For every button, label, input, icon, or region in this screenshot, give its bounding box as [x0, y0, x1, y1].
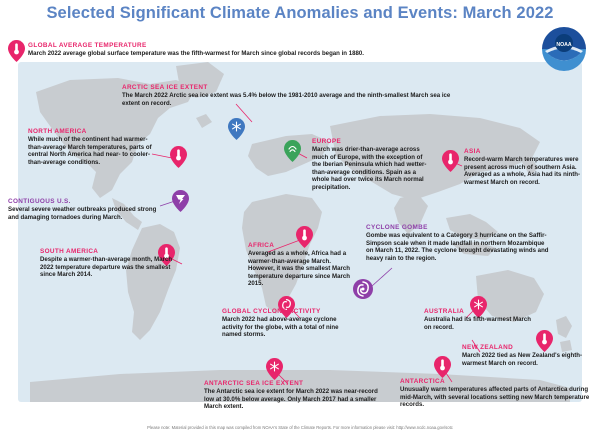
- callout-north-america: NORTH AMERICA While much of the continen…: [28, 128, 156, 166]
- callout-contiguous-us: CONTIGUOUS U.S. Several severe weather o…: [8, 198, 160, 221]
- marker-europe[interactable]: [284, 140, 301, 162]
- callout-body: Several severe weather outbreaks produce…: [8, 206, 160, 221]
- callout-body: March was drier-than-average across much…: [312, 146, 432, 192]
- marker-cyclone-gombe[interactable]: [352, 278, 374, 300]
- callout-heading: AUSTRALIA: [424, 308, 536, 316]
- marker-antarctic-sea-ice[interactable]: [266, 358, 283, 380]
- marker-asia[interactable]: [442, 150, 459, 172]
- callout-body: The March 2022 Arctic sea ice extent was…: [122, 92, 462, 107]
- callout-body: March 2022 had above-average cyclone act…: [222, 316, 348, 339]
- marker-arctic-sea-ice[interactable]: [228, 118, 245, 140]
- marker-antarctica[interactable]: [434, 356, 451, 378]
- callout-body: Averaged as a whole, Africa had a warmer…: [248, 250, 352, 288]
- callout-body: The Antarctic sea ice extent for March 2…: [204, 388, 388, 411]
- callout-heading: GLOBAL CYCLONE ACTIVITY: [222, 308, 348, 316]
- callout-heading: SOUTH AMERICA: [40, 248, 178, 256]
- callout-arctic-sea-ice-extent: ARCTIC SEA ICE EXTENT The March 2022 Arc…: [122, 84, 462, 107]
- callout-heading: CYCLONE GOMBE: [366, 224, 550, 232]
- callout-heading: AFRICA: [248, 242, 352, 250]
- callout-south-america: SOUTH AMERICA Despite a warmer-than-aver…: [40, 248, 178, 279]
- callout-body: Unusually warm temperatures affected par…: [400, 386, 590, 409]
- callout-heading: CONTIGUOUS U.S.: [8, 198, 160, 206]
- callout-heading: ANTARCTIC SEA ICE EXTENT: [204, 380, 388, 388]
- callout-cyclone-gombe: CYCLONE GOMBE Gombe was equivalent to a …: [366, 224, 550, 262]
- callout-body: March 2022 tied as New Zealand's eighth-…: [462, 352, 594, 367]
- callout-heading: GLOBAL AVERAGE TEMPERATURE: [28, 42, 448, 50]
- callout-new-zealand: NEW ZEALAND March 2022 tied as New Zeala…: [462, 344, 594, 367]
- callout-heading: EUROPE: [312, 138, 432, 146]
- callout-europe: EUROPE March was drier-than-average acro…: [312, 138, 432, 192]
- callout-heading: ARCTIC SEA ICE EXTENT: [122, 84, 462, 92]
- callout-antarctica: ANTARCTICA Unusually warm temperatures a…: [400, 378, 590, 409]
- callout-heading: ANTARCTICA: [400, 378, 590, 386]
- callout-global-cyclone-activity: GLOBAL CYCLONE ACTIVITY March 2022 had a…: [222, 308, 348, 339]
- callout-australia: AUSTRALIA Australia had its fifth-warmes…: [424, 308, 536, 331]
- climate-map-poster: Selected Significant Climate Anomalies a…: [0, 0, 600, 438]
- callout-asia: ASIA Record-warm March temperatures were…: [464, 148, 588, 186]
- marker-north-america[interactable]: [170, 146, 187, 168]
- callout-heading: NORTH AMERICA: [28, 128, 156, 136]
- callout-body: Gombe was equivalent to a Category 3 hur…: [366, 232, 550, 262]
- callout-africa: AFRICA Averaged as a whole, Africa had a…: [248, 242, 352, 288]
- footer-disclaimer: Please note: Material provided in this m…: [0, 425, 600, 431]
- callout-body: March 2022 average global surface temper…: [28, 50, 448, 58]
- callout-global-average-temperature: GLOBAL AVERAGE TEMPERATURE March 2022 av…: [28, 42, 448, 58]
- callout-body: While much of the continent had warmer-t…: [28, 136, 156, 166]
- callout-body: Despite a warmer-than-average month, Mar…: [40, 256, 178, 279]
- callout-antarctic-sea-ice-extent: ANTARCTIC SEA ICE EXTENT The Antarctic s…: [204, 380, 388, 411]
- marker-contiguous-us[interactable]: [172, 190, 189, 212]
- marker-global-average-temperature[interactable]: [8, 40, 25, 62]
- callout-body: Australia had its fifth-warmest March on…: [424, 316, 536, 331]
- callout-heading: ASIA: [464, 148, 588, 156]
- callout-body: Record-warm March temperatures were pres…: [464, 156, 588, 186]
- callout-heading: NEW ZEALAND: [462, 344, 594, 352]
